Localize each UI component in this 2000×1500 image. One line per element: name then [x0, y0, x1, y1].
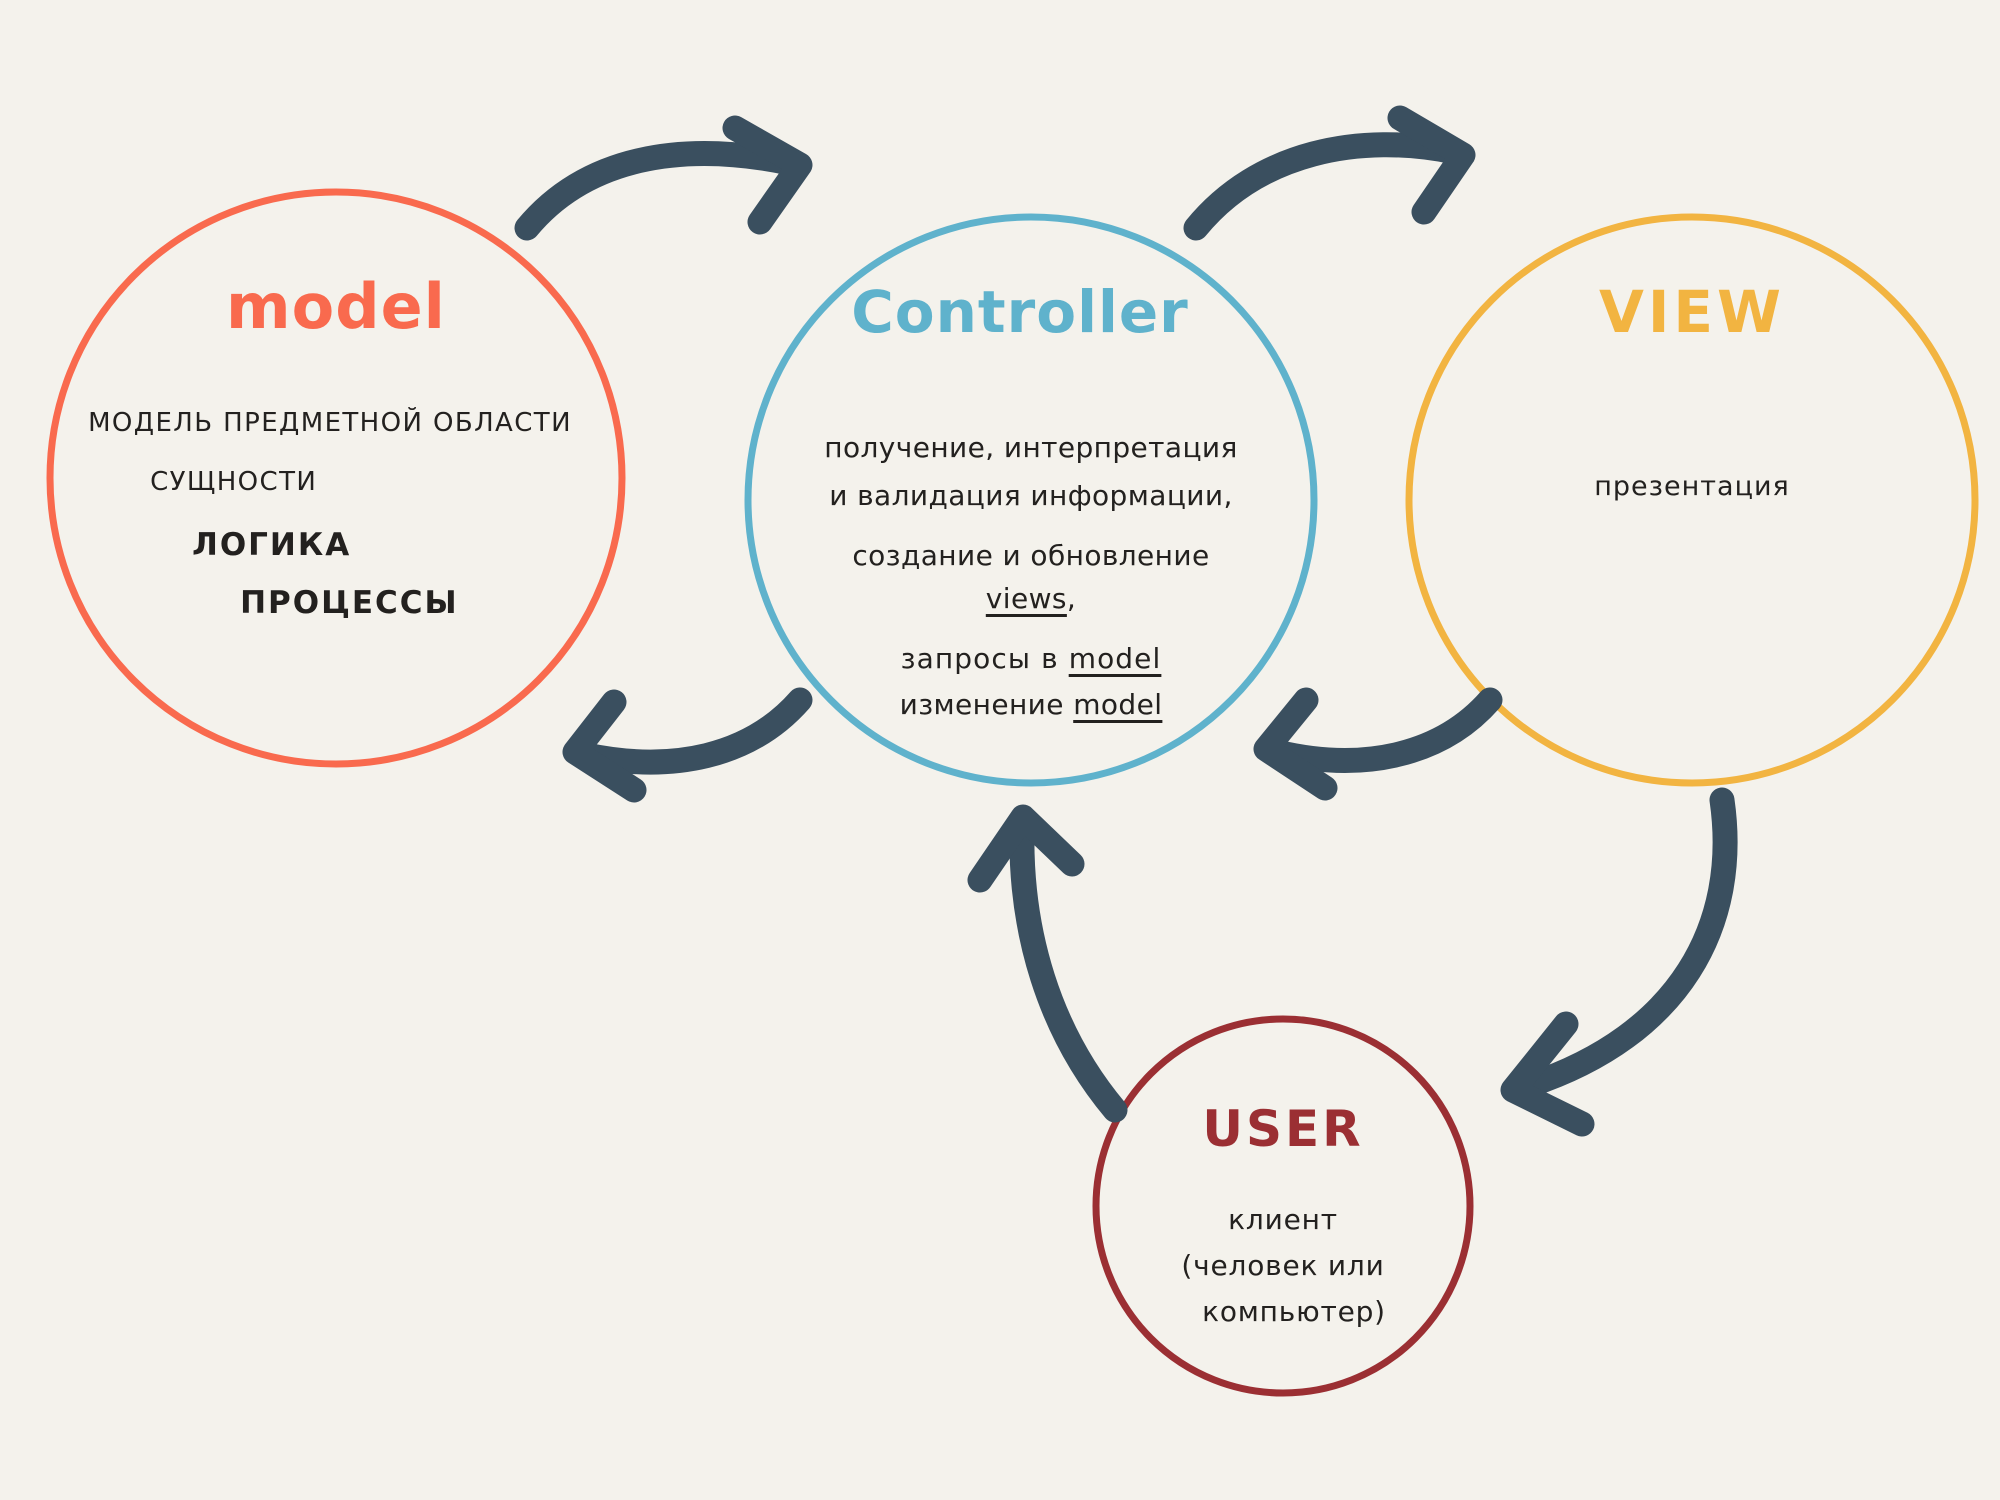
circle-controller[interactable]: [748, 217, 1314, 783]
diagram-canvas: model МОДЕЛЬ ПРЕДМЕТНОЙ ОБЛАСТИ СУЩНОСТИ…: [0, 0, 2000, 1500]
arrow-view-to-controller: [1266, 700, 1490, 788]
arrow-model-to-controller: [527, 128, 800, 228]
diagram-vector-layer: [0, 0, 2000, 1500]
arrow-controller-to-model: [575, 700, 800, 790]
arrow-view-to-user: [1513, 800, 1725, 1124]
arrow-controller-to-view: [1196, 118, 1463, 228]
circle-model[interactable]: [50, 192, 622, 764]
circle-user[interactable]: [1096, 1019, 1470, 1393]
arrow-user-to-controller: [980, 817, 1115, 1110]
